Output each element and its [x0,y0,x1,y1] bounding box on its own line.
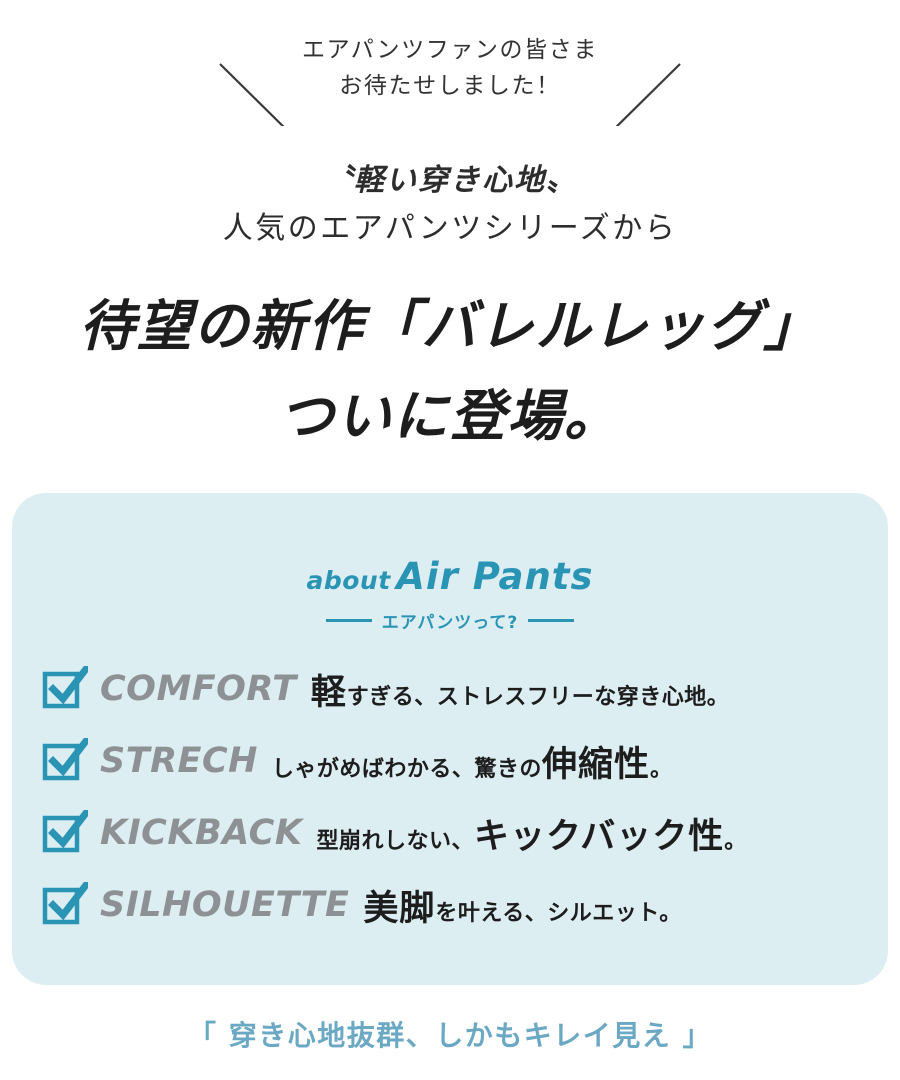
feature-rest-kickback: 。 [724,829,747,854]
feature-label-kickback: KICKBACK [100,813,302,853]
about-panel-header: about Air Pants エアパンツって? [12,555,888,633]
about-panel: about Air Pants エアパンツって? COMFORT 軽すぎる、スト… [12,493,888,985]
feature-label-strech: STRECH [100,741,258,781]
about-subtitle-row: エアパンツって? [12,608,888,633]
feature-label-comfort: COMFORT [100,669,297,709]
feature-row-silhouette: SILHOUETTE 美脚を叶える、シルエット。 [42,869,862,941]
feature-text-strech: しゃがめばわかる、驚きの伸縮性。 [272,736,673,787]
feature-emphasis-strech: 伸縮性 [542,745,650,785]
checkbox-checked-icon [42,666,88,712]
about-prefix: about [306,566,390,595]
headline-line-2: ついに登場。 [277,378,623,454]
feature-row-strech: STRECH しゃがめばわかる、驚きの伸縮性。 [42,725,862,797]
feature-emphasis-kickback: キックバック性 [474,817,724,857]
checkbox-checked-icon [42,738,88,784]
feature-emphasis-comfort: 軽 [311,673,347,713]
feature-row-comfort: COMFORT 軽すぎる、ストレスフリーな穿き心地。 [42,653,862,725]
headline-line-1: 待望の新作「バレルレッグ」 [77,288,822,364]
feature-rest-strech: 。 [650,757,673,782]
feature-rest-silhouette: を叶える、シルエット。 [435,901,681,926]
subheadline-line-1: 〝軽い穿き心地〟 [0,158,900,204]
checkbox-checked-icon [42,810,88,856]
eyebrow-line-1: エアパンツファンの皆さま [0,32,900,68]
feature-text-kickback: 型崩れしない、キックバック性。 [316,808,746,859]
eyebrow-text: エアパンツファンの皆さま お待たせしました！ [0,32,900,104]
about-subtitle: エアパンツって? [382,608,519,633]
feature-text-silhouette: 美脚を叶える、シルエット。 [363,880,681,931]
feature-row-kickback: KICKBACK 型崩れしない、キックバック性。 [42,797,862,869]
checkbox-checked-icon [42,882,88,928]
feature-lead-strech: しゃがめばわかる、驚きの [272,757,542,782]
subheadline-line-2: 人気のエアパンツシリーズから [0,204,900,254]
eyebrow-section: エアパンツファンの皆さま お待たせしました！ [0,26,900,126]
headline-row-2: ついに登場。 [0,378,900,468]
feature-rest-comfort: すぎる、ストレスフリーな穿き心地。 [347,685,730,710]
feature-list: COMFORT 軽すぎる、ストレスフリーな穿き心地。 STRECH しゃがめばわ… [42,653,862,941]
feature-lead-kickback: 型崩れしない、 [316,829,474,854]
headline-row-1: 待望の新作「バレルレッグ」 [0,288,900,378]
rule-right-icon [528,619,574,622]
about-title-line: about Air Pants [12,555,888,606]
feature-emphasis-silhouette: 美脚 [363,889,435,929]
bottom-tagline: 「 穿き心地抜群、しかもキレイ見え 」 [0,1014,900,1054]
feature-text-comfort: 軽すぎる、ストレスフリーな穿き心地。 [311,664,730,715]
feature-label-silhouette: SILHOUETTE [100,885,349,925]
rule-left-icon [326,619,372,622]
about-brand-title: Air Pants [396,555,593,598]
eyebrow-line-2: お待たせしました！ [0,68,900,104]
subheadline: 〝軽い穿き心地〟 人気のエアパンツシリーズから [0,158,900,254]
main-headline: 待望の新作「バレルレッグ」 ついに登場。 [0,288,900,468]
